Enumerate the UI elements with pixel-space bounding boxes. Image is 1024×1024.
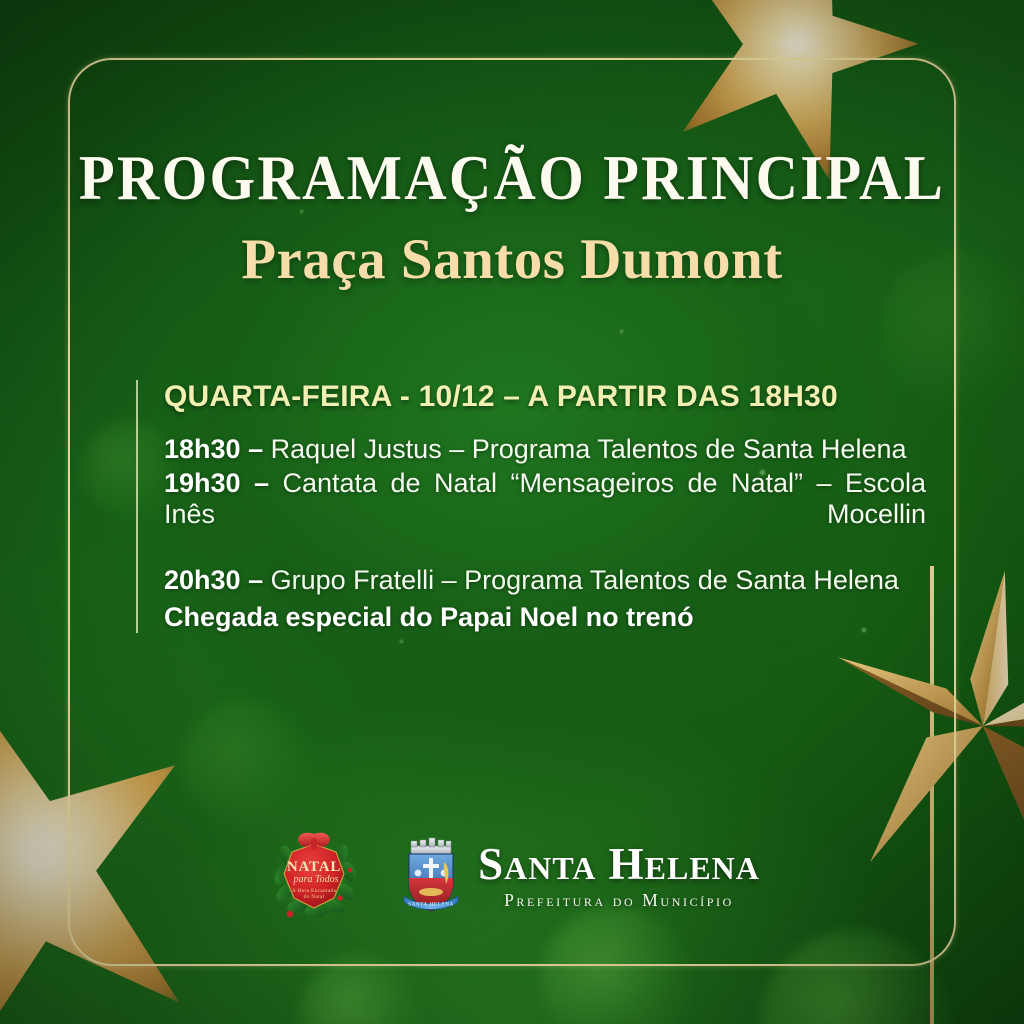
schedule-separator: – [241, 468, 283, 498]
prefeitura-text-block: Santa Helena Prefeitura do Município [478, 842, 760, 911]
natal-para-todos-logo-icon: NATAL para Todos A Hora Encantada do Nat… [264, 826, 364, 926]
svg-text:do Natal: do Natal [304, 894, 325, 900]
svg-text:SANTA HELENA: SANTA HELENA [408, 902, 454, 908]
schedule-panel: QUARTA-FEIRA - 10/12 – A PARTIR DAS 18H3… [136, 380, 926, 633]
schedule-special-note: Chegada especial do Papai Noel no trenó [164, 601, 926, 633]
poster-canvas: PROGRAMAÇÃO PRINCIPAL Praça Santos Dumon… [0, 0, 1024, 1024]
schedule-list: 18h30 – Raquel Justus – Programa Talento… [164, 434, 926, 633]
svg-text:para Todos: para Todos [293, 874, 339, 885]
schedule-separator: – [241, 434, 271, 464]
schedule-time: 18h30 [164, 434, 241, 464]
list-item: 20h30 – Grupo Fratelli – Programa Talent… [164, 565, 926, 597]
city-name: Santa Helena [478, 842, 760, 887]
santa-helena-coat-of-arms-icon: SANTA HELENA [398, 834, 464, 918]
title-block: PROGRAMAÇÃO PRINCIPAL Praça Santos Dumon… [0, 142, 1024, 292]
page-subtitle: Praça Santos Dumont [0, 227, 1024, 292]
schedule-separator: – [241, 565, 271, 595]
list-item: 19h30 – Cantata de Natal “Mensageiros de… [164, 468, 926, 563]
schedule-day-header: QUARTA-FEIRA - 10/12 – A PARTIR DAS 18H3… [164, 380, 926, 414]
page-title: PROGRAMAÇÃO PRINCIPAL [36, 142, 988, 215]
schedule-description: Grupo Fratelli – Programa Talentos de Sa… [271, 565, 899, 595]
prefeitura-logo: SANTA HELENA Santa Helena Prefeitura do … [398, 834, 760, 918]
schedule-description: Raquel Justus – Programa Talentos de San… [271, 434, 907, 464]
schedule-time: 19h30 [164, 468, 241, 498]
schedule-time: 20h30 [164, 565, 241, 595]
poster-content: PROGRAMAÇÃO PRINCIPAL Praça Santos Dumon… [0, 0, 1024, 1024]
city-tagline: Prefeitura do Município [504, 890, 734, 911]
svg-text:NATAL: NATAL [287, 859, 341, 875]
footer-logos: NATAL para Todos A Hora Encantada do Nat… [0, 826, 1024, 926]
list-item: 18h30 – Raquel Justus – Programa Talento… [164, 434, 926, 466]
